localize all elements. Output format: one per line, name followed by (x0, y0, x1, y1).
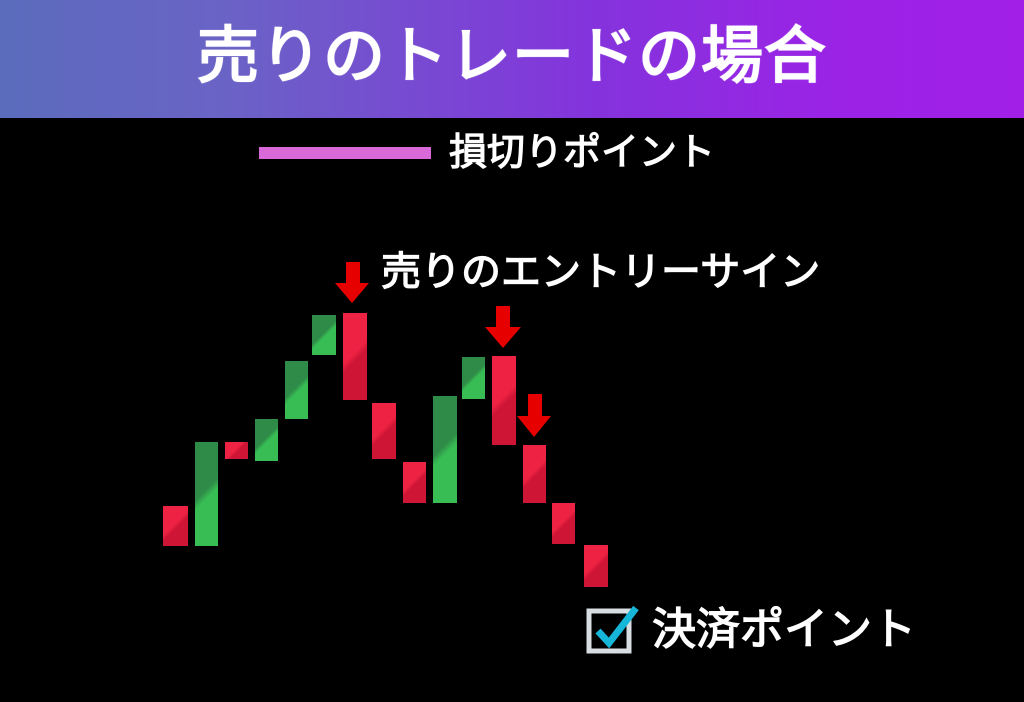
candle-13-down (523, 445, 546, 503)
down-arrow-shaft-icon (528, 394, 542, 416)
candle-9-down (403, 462, 426, 503)
checkbox-checked-icon (586, 603, 640, 657)
legend-stoploss-label: 損切りポイント (449, 134, 715, 172)
candle-10-up (433, 396, 457, 503)
down-arrow-head-icon (517, 416, 551, 437)
candle-15-down (584, 545, 608, 587)
candle-8-down (372, 403, 396, 459)
stoploss-line-swatch-icon (259, 147, 431, 159)
candle-1-down (163, 506, 188, 546)
sell-entry-arrow-2 (485, 306, 521, 348)
candle-7-down (343, 313, 367, 400)
sell-entry-arrow-3 (517, 394, 552, 437)
down-arrow-head-icon (335, 283, 369, 303)
slide-canvas: 売りのトレードの場合 損切りポイント 売りのエントリーサイン 決済ポイント (0, 0, 1024, 702)
down-arrow-head-icon (485, 327, 521, 348)
annotation-exit: 決済ポイント (586, 603, 916, 657)
annotation-sell-entry-label: 売りのエントリーサイン (381, 252, 820, 292)
annotation-exit-label: 決済ポイント (652, 608, 916, 652)
header-banner: 売りのトレードの場合 (0, 0, 1024, 118)
down-arrow-shaft-icon (496, 306, 510, 327)
candle-4-up (255, 419, 278, 461)
candle-2-up (195, 442, 218, 546)
candle-5-up (285, 361, 308, 419)
down-arrow-shaft-icon (346, 262, 360, 283)
candle-6-up (312, 315, 336, 355)
candle-14-down (552, 503, 575, 544)
page-title: 売りのトレードの場合 (197, 26, 827, 88)
candle-3-down (225, 442, 248, 459)
candle-11-up (462, 357, 485, 399)
legend-stoploss: 損切りポイント (259, 134, 715, 172)
candle-12-down (492, 356, 516, 445)
sell-entry-arrow-1 (335, 262, 370, 303)
